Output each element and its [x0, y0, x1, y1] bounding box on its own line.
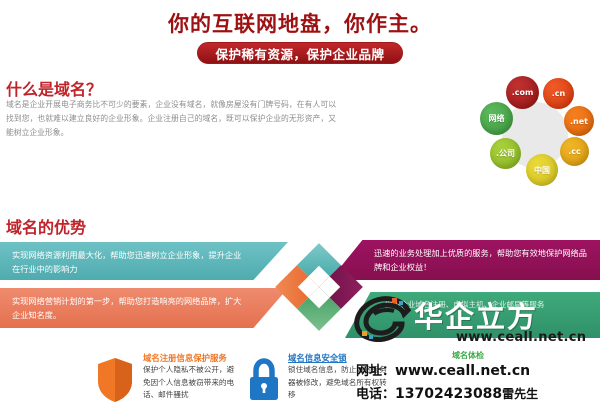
domain-bubble-wangluo: 网络	[480, 102, 513, 135]
domain-bubble-label: .公司	[496, 148, 515, 159]
advantage-ribbon-2: 实现网络营销计划的第一步，帮助您打造响亮的网络品牌，扩大企业知名度。	[0, 288, 288, 328]
contact-website-value[interactable]: www.ceall.net.cn	[395, 363, 530, 379]
advantage-ribbon-1: 实现网络资源利用最大化，帮助您迅速树立企业形象，提升企业在行业中的影响力	[0, 242, 288, 280]
domain-bubble-zhongguo: 中国	[526, 154, 558, 186]
domain-bubble-cc: .cc	[560, 137, 589, 166]
domain-bubble-com: .com	[506, 76, 539, 109]
page-title: 你的互联网地盘，你作主。	[0, 8, 600, 38]
contact-phone-line: 电话：13702423088雷先生	[356, 383, 600, 406]
domain-bubble-label: .net	[570, 117, 588, 126]
section-heading-advantages: 域名的优势	[6, 214, 86, 238]
domain-bubble-label: 中国	[534, 165, 550, 176]
domain-ring-diagram: .com .cn .net .cc 中国 .公司 网络	[474, 76, 596, 194]
contact-block: 网址：www.ceall.net.cn 电话：13702423088雷先生	[356, 360, 600, 406]
hero-banner: 保护稀有资源，保护企业品牌	[197, 42, 403, 64]
domain-bubble-net: .net	[564, 106, 594, 136]
brand-url: www.ceall.net.cn	[456, 330, 586, 345]
advantage-ribbon-3: 迅速的业务处理加上优质的服务，帮助您有效地保护网络品牌和企业权益！	[330, 240, 600, 280]
domain-bubble-gongsi: .公司	[490, 138, 521, 169]
feature-title: 域名注册信息保护服务	[143, 352, 239, 364]
domain-bubble-label: .com	[512, 88, 534, 97]
feature-body: 保护个人隐私不被公开，避免因个人信息被窃带来的电话、邮件骚扰	[143, 364, 239, 402]
contact-person-name: 雷先生	[502, 387, 538, 401]
lock-icon	[247, 358, 281, 402]
feature-domain-privacy: 域名注册信息保护服务 保护个人隐私不被公开，避免因个人信息被窃带来的电话、邮件骚…	[143, 352, 239, 402]
e-swoosh-logo-icon	[352, 296, 416, 342]
hero-banner-label: 保护稀有资源，保护企业品牌	[215, 44, 384, 63]
contact-phone-value: 13702423088	[395, 386, 502, 402]
brand-block: 华企立方 www.ceall.net.cn	[352, 294, 600, 346]
contact-phone-label: 电话：	[356, 387, 395, 402]
contact-website-line: 网址：www.ceall.net.cn	[356, 360, 600, 383]
section-heading-what-is-domain: 什么是域名？	[6, 76, 102, 100]
poster-root: 你的互联网地盘，你作主。 保护稀有资源，保护企业品牌 什么是域名？ 域名是企业开…	[0, 0, 600, 416]
shield-icon	[96, 357, 134, 403]
domain-bubble-label: .cc	[568, 147, 581, 156]
domain-bubble-label: .cn	[552, 89, 565, 98]
domain-bubble-label: 网络	[489, 113, 505, 124]
contact-website-label: 网址：	[356, 364, 395, 379]
domain-bubble-cn: .cn	[543, 78, 574, 109]
section-body-what-is-domain: 域名是企业开展电子商务比不可少的要素，企业没有域名，就像房屋没有门牌号码，在有人…	[6, 98, 336, 140]
